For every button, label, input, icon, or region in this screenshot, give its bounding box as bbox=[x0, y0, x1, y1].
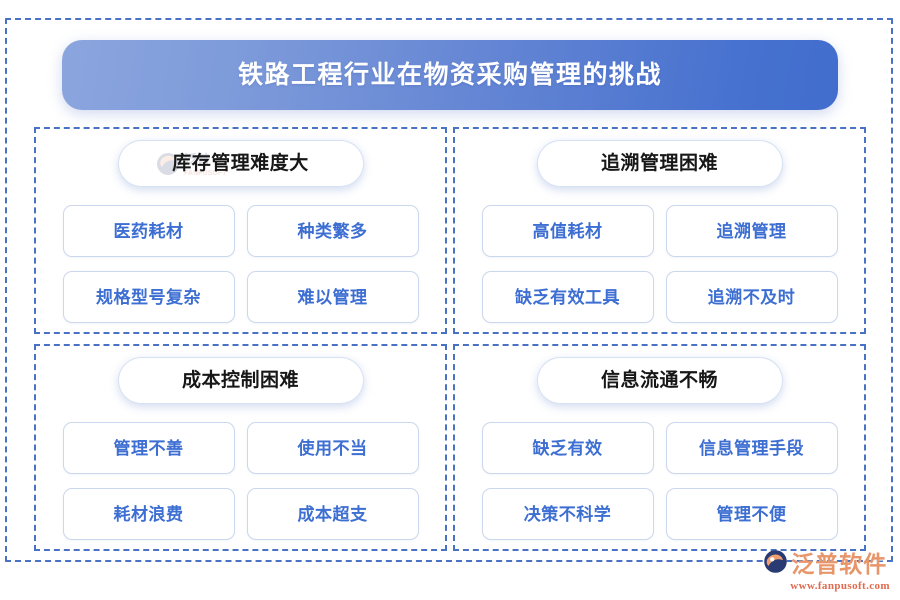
quadrant-header-label: 库存管理难度大 bbox=[172, 154, 309, 173]
page-title: 铁路工程行业在物资采购管理的挑战 bbox=[238, 63, 662, 88]
quadrant-items: 管理不善 使用不当 耗材浪费 成本超支 bbox=[63, 422, 419, 540]
quadrant-item-label: 规格型号复杂 bbox=[96, 289, 201, 306]
quadrant-header-label: 追溯管理困难 bbox=[601, 154, 718, 173]
quadrant-item[interactable]: 决策不科学 bbox=[482, 488, 654, 540]
brand-name: 泛普软件 bbox=[791, 553, 887, 576]
brand-url: www.fanpusoft.com bbox=[790, 581, 890, 592]
quadrant-item[interactable]: 追溯管理 bbox=[666, 205, 838, 257]
quadrant-item-label: 成本超支 bbox=[298, 506, 368, 523]
quadrant-header-label: 成本控制困难 bbox=[182, 371, 299, 390]
quadrant-header: 信息流通不畅 bbox=[537, 357, 783, 404]
quadrant-item-label: 追溯管理 bbox=[717, 223, 787, 240]
fanpu-logo-icon bbox=[763, 549, 788, 579]
quadrant-item[interactable]: 种类繁多 bbox=[247, 205, 419, 257]
quadrant-inventory: 泛普 FANPUSOFT 库存管理难度大 医药耗材 种类繁多 规格型号复杂 难以… bbox=[34, 127, 447, 334]
quadrant-traceability: 追溯管理困难 高值耗材 追溯管理 缺乏有效工具 追溯不及时 bbox=[453, 127, 866, 334]
quadrant-information-flow: 信息流通不畅 缺乏有效 信息管理手段 决策不科学 管理不便 bbox=[453, 344, 866, 551]
brand-row: 泛普软件 bbox=[763, 549, 887, 579]
quadrant-cost-control: 成本控制困难 管理不善 使用不当 耗材浪费 成本超支 bbox=[34, 344, 447, 551]
quadrant-item[interactable]: 医药耗材 bbox=[63, 205, 235, 257]
quadrant-item[interactable]: 追溯不及时 bbox=[666, 271, 838, 323]
quadrant-item-label: 管理不善 bbox=[114, 440, 184, 457]
quadrant-item-label: 使用不当 bbox=[298, 440, 368, 457]
quadrant-item[interactable]: 缺乏有效工具 bbox=[482, 271, 654, 323]
quadrant-item[interactable]: 难以管理 bbox=[247, 271, 419, 323]
quadrant-grid: 泛普 FANPUSOFT 库存管理难度大 医药耗材 种类繁多 规格型号复杂 难以… bbox=[34, 127, 866, 551]
quadrant-item-label: 追溯不及时 bbox=[708, 289, 796, 306]
quadrant-item[interactable]: 管理不便 bbox=[666, 488, 838, 540]
quadrant-item[interactable]: 规格型号复杂 bbox=[63, 271, 235, 323]
quadrant-header: 泛普 FANPUSOFT 库存管理难度大 bbox=[118, 140, 364, 187]
quadrant-header: 成本控制困难 bbox=[118, 357, 364, 404]
quadrant-item-label: 高值耗材 bbox=[533, 223, 603, 240]
quadrant-item[interactable]: 管理不善 bbox=[63, 422, 235, 474]
quadrant-item[interactable]: 成本超支 bbox=[247, 488, 419, 540]
quadrant-items: 医药耗材 种类繁多 规格型号复杂 难以管理 bbox=[63, 205, 419, 323]
quadrant-items: 高值耗材 追溯管理 缺乏有效工具 追溯不及时 bbox=[482, 205, 838, 323]
infographic-canvas: 铁路工程行业在物资采购管理的挑战 泛普 FANPUSOFT 库存管理难度大 医药… bbox=[0, 0, 900, 600]
quadrant-item[interactable]: 使用不当 bbox=[247, 422, 419, 474]
quadrant-header: 追溯管理困难 bbox=[537, 140, 783, 187]
quadrant-item[interactable]: 高值耗材 bbox=[482, 205, 654, 257]
quadrant-item-label: 信息管理手段 bbox=[699, 440, 804, 457]
quadrant-item[interactable]: 缺乏有效 bbox=[482, 422, 654, 474]
quadrant-item-label: 医药耗材 bbox=[114, 223, 184, 240]
quadrant-items: 缺乏有效 信息管理手段 决策不科学 管理不便 bbox=[482, 422, 838, 540]
quadrant-item[interactable]: 信息管理手段 bbox=[666, 422, 838, 474]
quadrant-item-label: 耗材浪费 bbox=[114, 506, 184, 523]
quadrant-item-label: 难以管理 bbox=[298, 289, 368, 306]
quadrant-item[interactable]: 耗材浪费 bbox=[63, 488, 235, 540]
quadrant-item-label: 种类繁多 bbox=[298, 223, 368, 240]
title-banner: 铁路工程行业在物资采购管理的挑战 bbox=[62, 40, 838, 110]
quadrant-item-label: 缺乏有效 bbox=[533, 440, 603, 457]
brand-logo: 泛普软件 www.fanpusoft.com bbox=[763, 549, 890, 592]
quadrant-item-label: 缺乏有效工具 bbox=[515, 289, 620, 306]
quadrant-header-label: 信息流通不畅 bbox=[601, 371, 718, 390]
quadrant-item-label: 决策不科学 bbox=[524, 506, 612, 523]
quadrant-item-label: 管理不便 bbox=[717, 506, 787, 523]
